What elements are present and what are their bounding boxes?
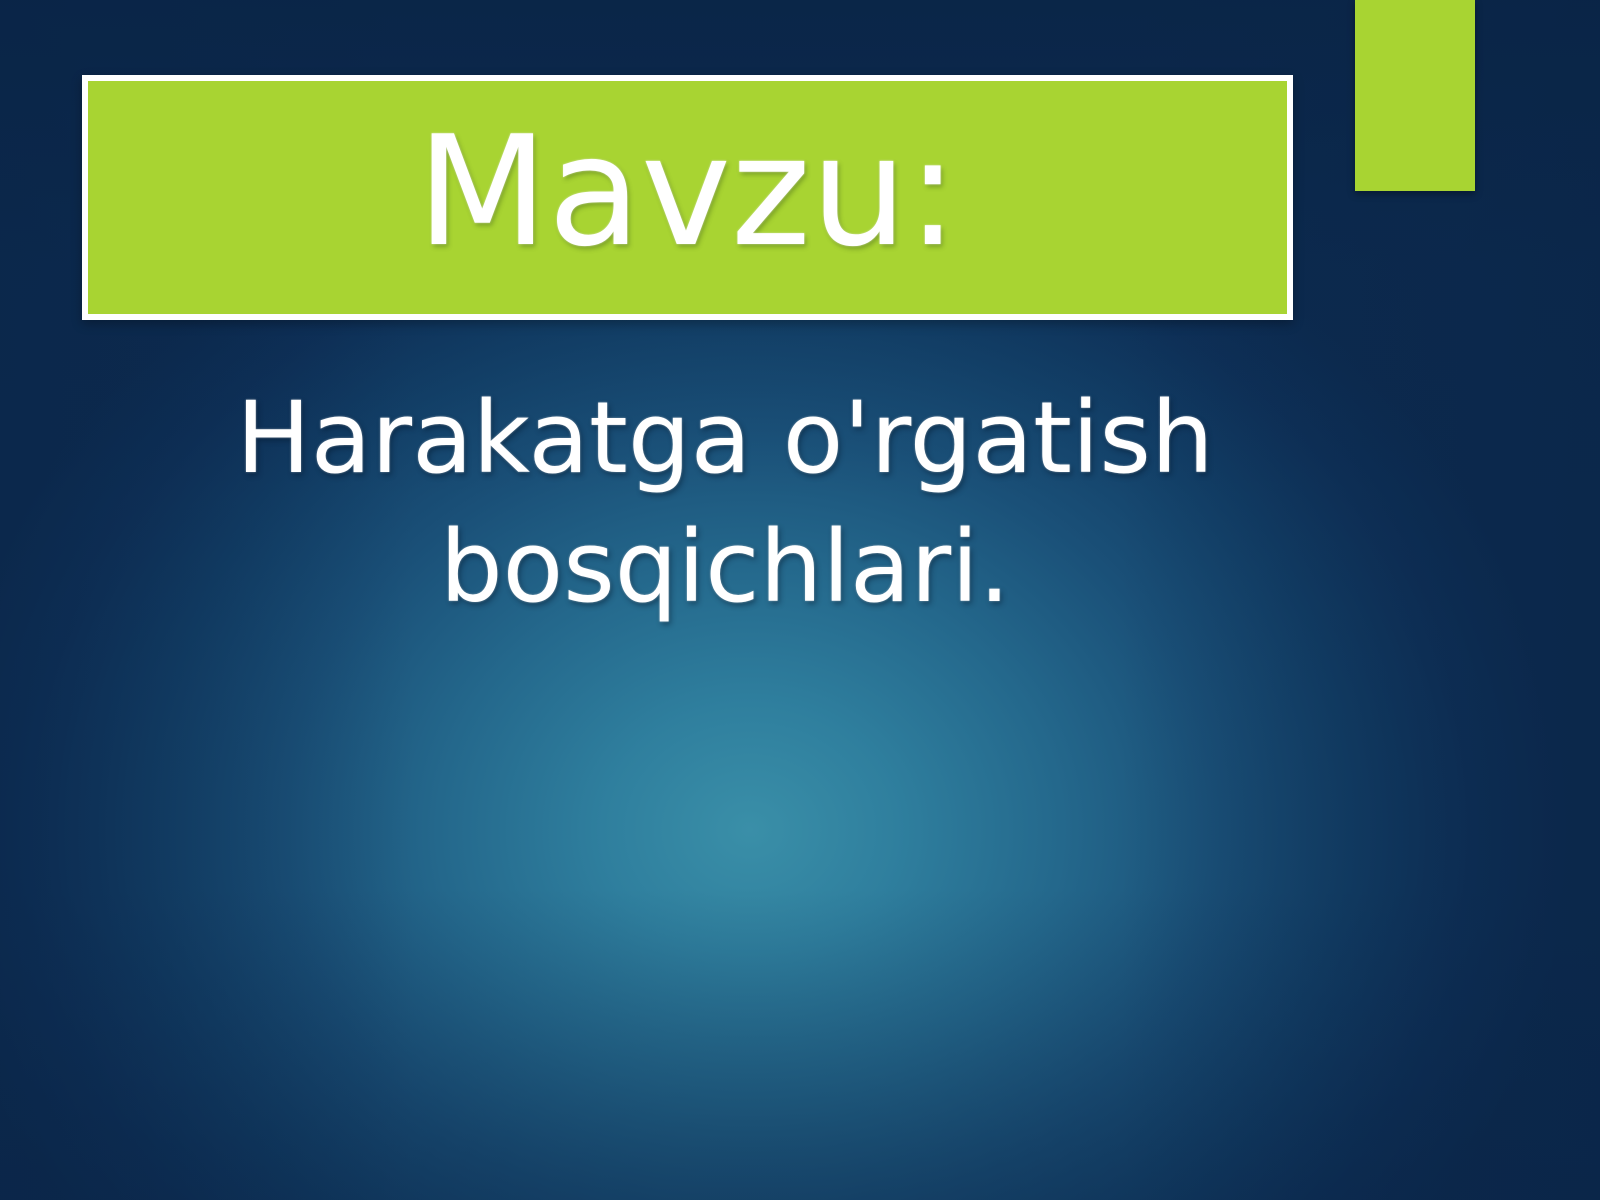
slide-subtitle: Harakatga o'rgatish bosqichlari. xyxy=(130,375,1320,632)
subtitle-block: Harakatga o'rgatish bosqichlari. xyxy=(130,375,1320,632)
accent-bar-top-right xyxy=(1355,0,1475,191)
title-plate: Mavzu: xyxy=(82,75,1293,320)
slide-title: Mavzu: xyxy=(417,116,959,268)
presentation-slide: Mavzu: Harakatga o'rgatish bosqichlari. xyxy=(0,0,1600,1200)
